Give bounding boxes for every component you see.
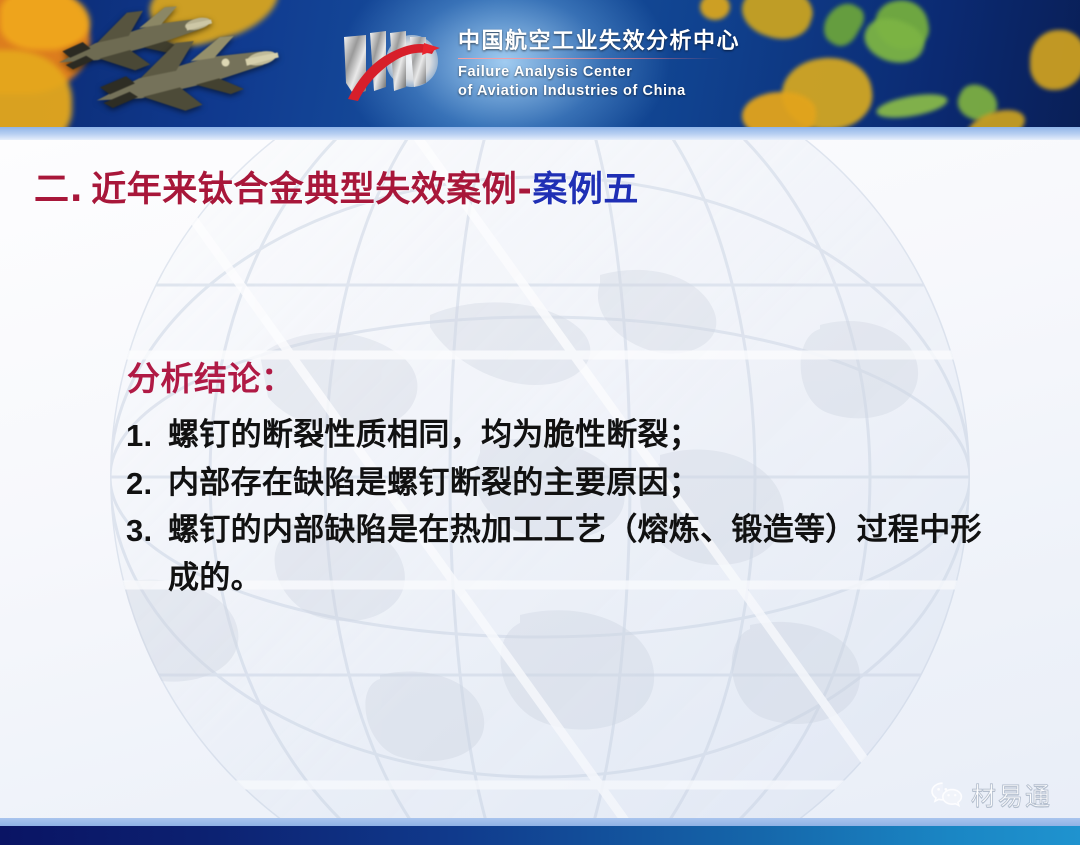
list-item-text: 螺钉的断裂性质相同，均为脆性断裂； [168, 412, 1006, 460]
title-dash: - [517, 170, 532, 210]
title-main: 近年来钛合金典型失效案例 [91, 170, 517, 210]
list-item-number: 3. [126, 507, 168, 555]
map-landmass-icon [742, 92, 816, 127]
list-item-number: 1. [126, 412, 168, 460]
title-highlight: 案例五 [532, 170, 639, 210]
list-item: 3. 螺钉的内部缺陷是在热加工工艺（熔炼、锻造等）过程中形成的。 [126, 507, 1006, 602]
logo-divider [458, 58, 720, 59]
wechat-watermark: 材易通 [930, 777, 1052, 813]
map-landmass-icon [1030, 30, 1080, 90]
logo-english-line2: of Aviation Industries of China [458, 82, 740, 100]
map-landmass-icon [817, 0, 868, 52]
presentation-slide: 中国航空工业失效分析中心 Failure Analysis Center of … [0, 0, 1080, 845]
slide-title: 二.近年来钛合金典型失效案例-案例五 [34, 172, 639, 209]
header-banner: 中国航空工业失效分析中心 Failure Analysis Center of … [0, 0, 1080, 127]
fac-logomark-icon [336, 21, 446, 107]
list-item: 1. 螺钉的断裂性质相同，均为脆性断裂； [126, 412, 1006, 460]
conclusion-heading: 分析结论： [127, 352, 295, 400]
map-landmass-icon [736, 0, 819, 48]
logo-chinese-name: 中国航空工业失效分析中心 [458, 30, 740, 54]
fighter-jet-icon [78, 36, 293, 120]
header-accent-band [0, 127, 1080, 140]
conclusion-list: 1. 螺钉的断裂性质相同，均为脆性断裂； 2. 内部存在缺陷是螺钉断裂的主要原因… [126, 412, 1006, 603]
footer-bar [0, 826, 1080, 845]
list-item-number: 2. [126, 460, 168, 508]
logo-english-line1: Failure Analysis Center [458, 63, 740, 81]
wechat-watermark-label: 材易通 [971, 777, 1052, 813]
footer-accent-band [0, 818, 1080, 826]
wechat-icon [930, 781, 964, 809]
list-item: 2. 内部存在缺陷是螺钉断裂的主要原因； [126, 460, 1006, 508]
list-item-text: 内部存在缺陷是螺钉断裂的主要原因； [168, 460, 1006, 508]
fac-logo: 中国航空工业失效分析中心 Failure Analysis Center of … [336, 16, 736, 112]
title-prefix: 二. [34, 170, 83, 210]
map-landmass-icon [875, 90, 949, 122]
list-item-text: 螺钉的内部缺陷是在热加工工艺（熔炼、锻造等）过程中形成的。 [168, 507, 1006, 602]
